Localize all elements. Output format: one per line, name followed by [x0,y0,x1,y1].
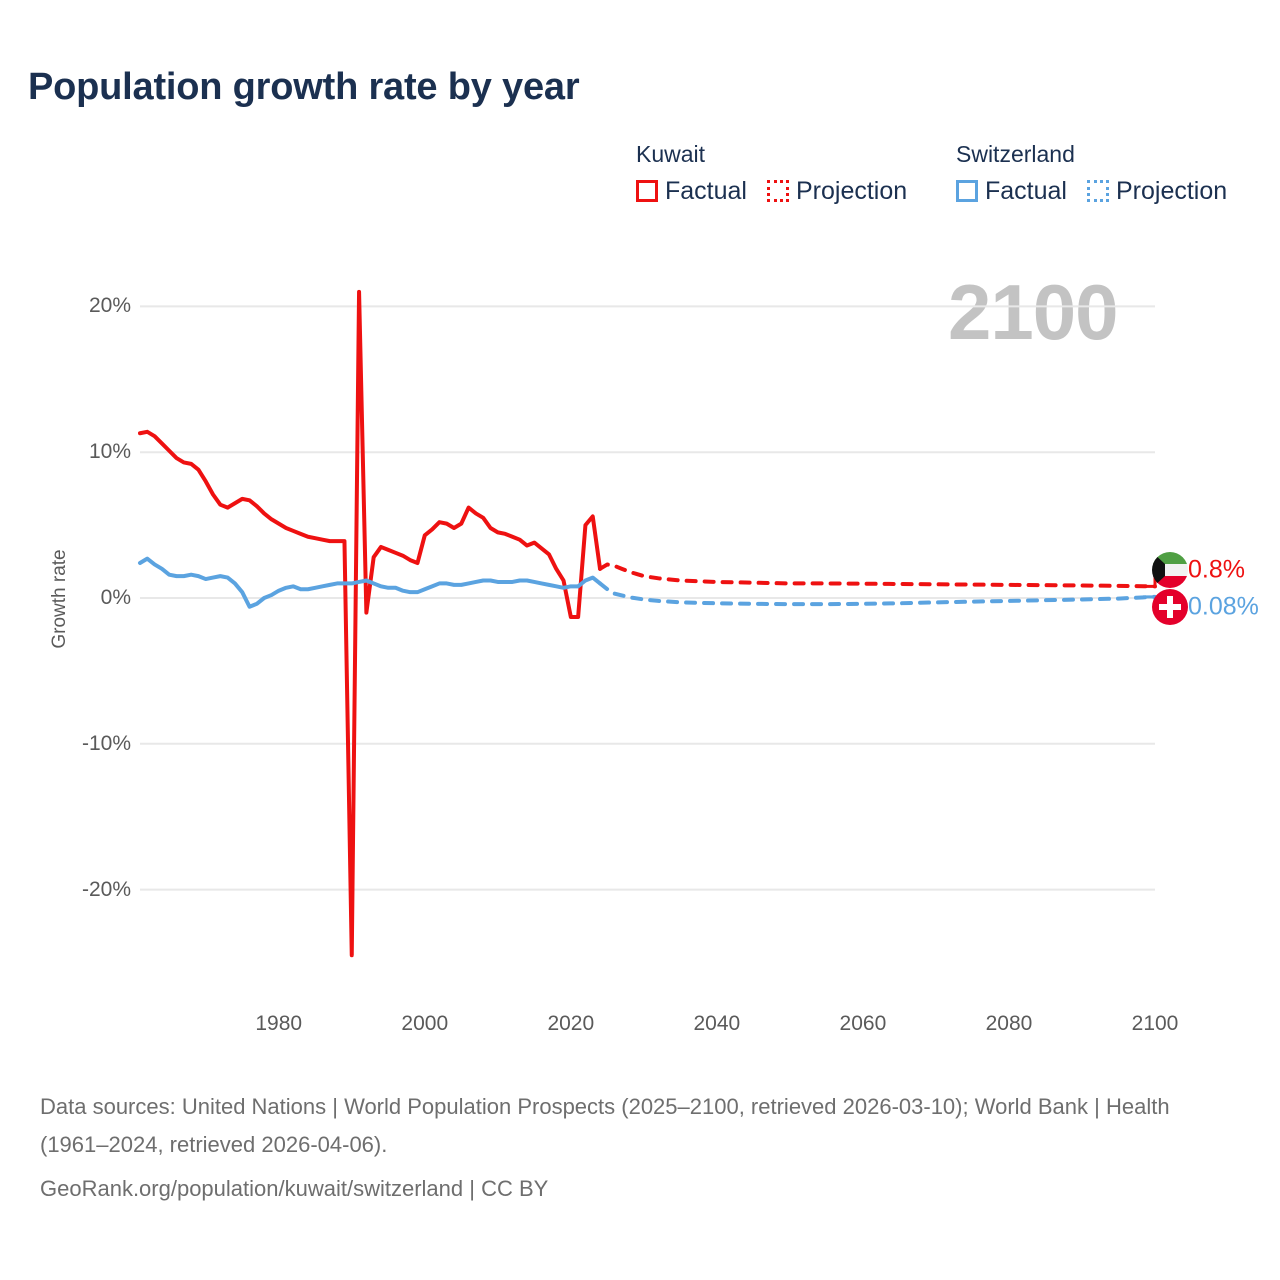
chart-container: Population growth rate by year Kuwait Fa… [0,0,1280,1280]
footer-attribution[interactable]: GeoRank.org/population/kuwait/switzerlan… [40,1170,1240,1208]
kuwait-flag-icon [1152,552,1188,588]
x-tick-label: 2060 [840,1012,887,1036]
switzerland-flag-icon [1152,589,1188,625]
kuwait-end-value: 0.8% [1188,556,1245,585]
x-tick-label: 2100 [1132,1012,1179,1036]
x-tick-label: 2000 [401,1012,448,1036]
y-tick-label: 10% [89,440,131,464]
y-tick-label: -10% [82,732,131,756]
series-line-kuwait-projection [600,564,1155,586]
x-tick-label: 2020 [547,1012,594,1036]
y-tick-label: 0% [101,586,131,610]
switzerland-end-value: 0.08% [1188,593,1259,622]
y-tick-label: 20% [89,294,131,318]
x-tick-label: 1980 [255,1012,302,1036]
x-tick-label: 2040 [694,1012,741,1036]
series-line-kuwait-factual [140,292,600,955]
footer-sources: Data sources: United Nations | World Pop… [40,1088,1240,1164]
y-tick-label: -20% [82,878,131,902]
x-tick-label: 2080 [986,1012,1033,1036]
footer: Data sources: United Nations | World Pop… [40,1088,1240,1208]
